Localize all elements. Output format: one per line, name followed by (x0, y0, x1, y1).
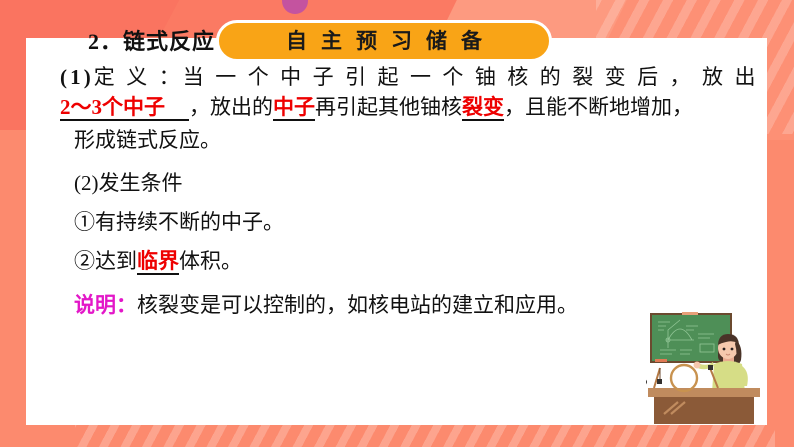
definition-line-1: (1)定 义 ：当 一 个 中 子 引 起 一 个 铀 核 的 裂 变 后 ， … (60, 67, 710, 88)
condition-item2-prefix: ②达到 (74, 249, 137, 273)
ring-apparatus (671, 365, 697, 391)
note-label: 说明： (74, 293, 137, 317)
condition-item-1: ①有持续不断的中子。 (74, 212, 710, 233)
definition-line-3: 形成链式反应。 (74, 130, 710, 151)
note-text: 核裂变是可以控制的，如核电站的建立和应用。 (137, 293, 578, 317)
teacher-arm-right (742, 366, 748, 386)
answer-blank-critical: 临界 (137, 251, 179, 275)
section-title-text: 自主预习储备 (272, 31, 496, 52)
definition-line-2: 2～3个中子，放出的中子再引起其他铀核裂变，且能不断地增加， (60, 97, 710, 121)
definition-line1-text: 当 一 个 中 子 引 起 一 个 铀 核 的 裂 变 后 ， 放 出 (183, 65, 759, 89)
definition-line2-part1: ，放出的 (189, 95, 273, 119)
section-title-banner: 自主预习储备 (216, 20, 552, 62)
definition-term: 定 义 ： (94, 65, 183, 89)
slide-root: 自主预习储备 2．链式反应 (1)定 义 ：当 一 个 中 子 引 起 一 个 … (0, 0, 794, 447)
answer-blank-fission: 裂变 (462, 97, 504, 121)
note-line: 说明：核裂变是可以控制的，如核电站的建立和应用。 (74, 295, 710, 316)
background-stripes-bottom (75, 425, 775, 447)
definition-label: (1) (60, 65, 94, 89)
answer-blank-neutron-count: 2～3个中子 (60, 97, 189, 121)
teacher-hand (694, 362, 701, 369)
chalkboard-eraser (655, 359, 667, 362)
classroom-illustration (646, 310, 768, 425)
content-body: 2．链式反应 (1)定 义 ：当 一 个 中 子 引 起 一 个 铀 核 的 裂… (60, 24, 710, 316)
definition-line2-part3: ，且能不断地增加， (504, 95, 693, 119)
small-ball (646, 379, 647, 385)
condition-item-2: ②达到临界体积。 (74, 251, 710, 275)
teacher-eye-left (723, 348, 726, 351)
conditions-label: (2)发生条件 (74, 173, 710, 194)
definition-line2-part2: 再引起其他铀核 (315, 95, 462, 119)
desk-top (648, 388, 760, 397)
teacher-eye-right (731, 348, 734, 351)
answer-blank-neutron: 中子 (273, 97, 315, 121)
condition-item2-suffix: 体积。 (179, 249, 242, 273)
pendulum-apparatus (654, 368, 662, 388)
chalkboard-top-trim (682, 312, 698, 315)
